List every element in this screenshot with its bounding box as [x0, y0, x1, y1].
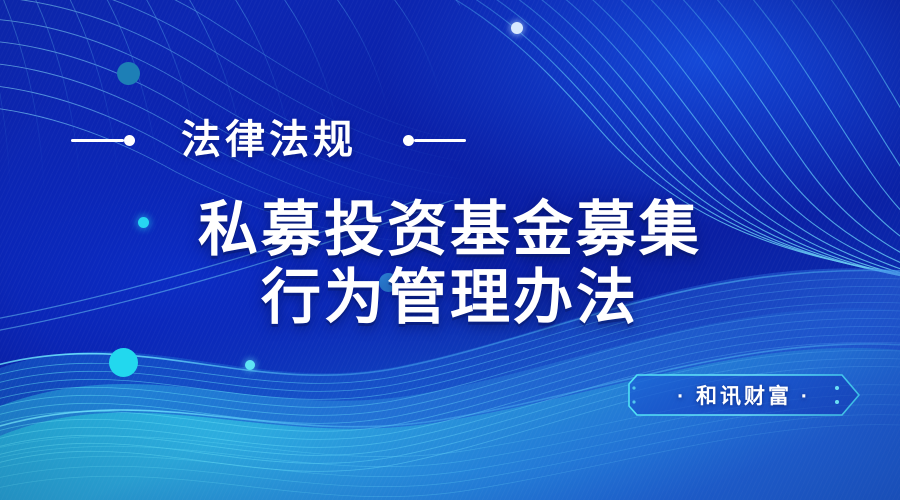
right-bullet-dot-icon — [403, 135, 414, 146]
headline-line-1: 私募投资基金募集 — [0, 196, 900, 264]
right-rule-icon — [414, 139, 466, 142]
left-bullet-dot-icon — [124, 135, 135, 146]
cyan-dot-decoration-small — [245, 360, 255, 370]
teal-circle-decoration — [117, 62, 140, 85]
badge-label: · 和讯财富 · — [628, 374, 860, 416]
cyan-circle-decoration — [109, 348, 138, 377]
kicker-row: 法律法规 — [0, 108, 900, 172]
category-label: 法律法规 — [181, 120, 357, 160]
white-dot-decoration — [511, 22, 523, 34]
left-rule-icon — [71, 139, 124, 142]
page-title: 私募投资基金募集 行为管理办法 — [0, 196, 900, 333]
source-badge: · 和讯财富 · — [628, 374, 860, 416]
headline-line-2: 行为管理办法 — [0, 264, 900, 332]
promo-banner: 法律法规 私募投资基金募集 行为管理办法 — [0, 0, 900, 500]
